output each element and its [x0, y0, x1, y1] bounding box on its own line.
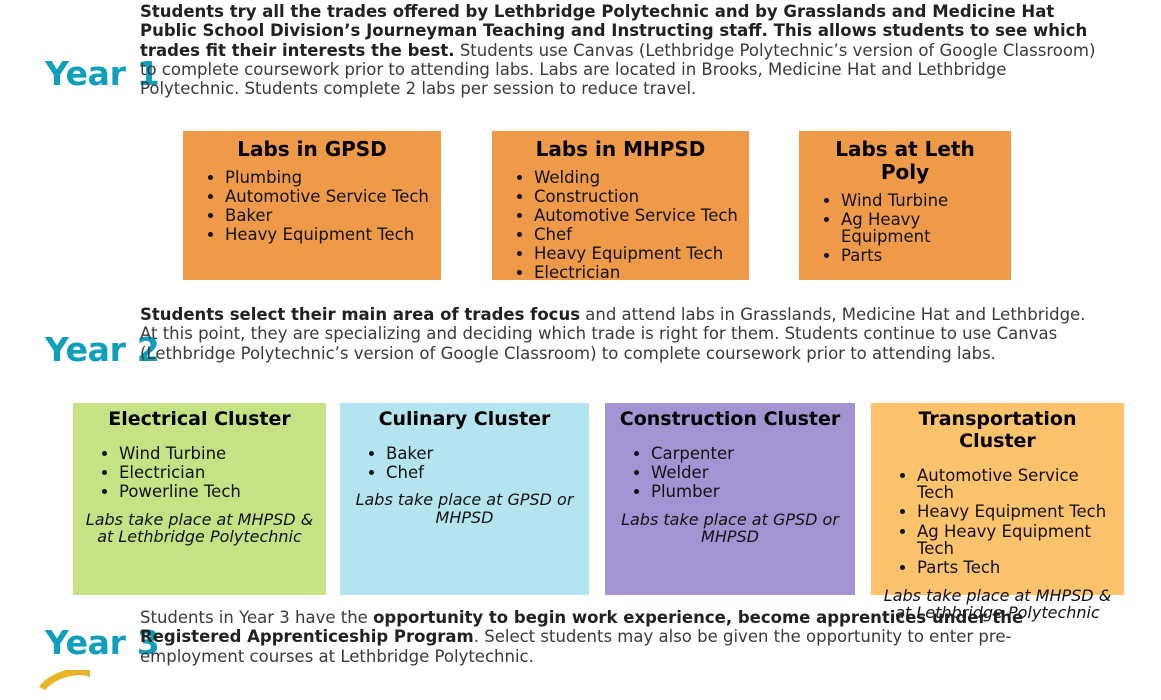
cluster-box-electrical: Electrical Cluster Wind Turbine Electric… [73, 403, 326, 595]
lab-box-leth-poly-title: Labs at Leth Poly [809, 138, 1001, 184]
year-3-lead-text: Students in Year 3 have the [140, 608, 373, 627]
cluster-electrical-list: Wind Turbine Electrician Powerline Tech [81, 445, 318, 501]
list-item: Parts [841, 247, 1001, 264]
cluster-culinary-title: Culinary Cluster [348, 409, 581, 431]
year-3-label: Year 3 [0, 608, 140, 661]
cluster-transportation-list: Automotive Service Tech Heavy Equipment … [879, 467, 1116, 577]
list-item: Plumber [651, 483, 847, 500]
cluster-electrical-title: Electrical Cluster [81, 409, 318, 431]
year-2-bold-text: Students select their main area of trade… [140, 305, 580, 324]
lab-box-mhpsd-list: Welding Construction Automotive Service … [502, 169, 739, 281]
trades-pathway-infographic: Year 1 Students try all the trades offer… [0, 0, 1161, 679]
list-item: Baker [386, 445, 581, 462]
list-item: Ag Heavy Equipment Tech [917, 523, 1116, 558]
cluster-culinary-list: Baker Chef [348, 445, 581, 482]
year-2-section: Year 2 Students select their main area o… [0, 305, 1161, 368]
cluster-construction-note: Labs take place at GPSD or MHPSD [613, 511, 847, 546]
lab-box-leth-poly: Labs at Leth Poly Wind Turbine Ag Heavy … [799, 131, 1011, 280]
list-item: Baker [225, 207, 431, 224]
list-item: Heavy Equipment Tech [225, 226, 431, 243]
cluster-construction-title: Construction Cluster [613, 409, 847, 431]
year-2-cluster-boxes: Electrical Cluster Wind Turbine Electric… [0, 403, 1161, 598]
cluster-transportation-title: Transportation Cluster [879, 409, 1116, 453]
list-item: Wind Turbine [119, 445, 318, 462]
logo-swoosh-icon [34, 670, 90, 700]
list-item: Powerline Tech [119, 483, 318, 500]
list-item: Electrician [534, 264, 739, 281]
lab-box-leth-poly-list: Wind Turbine Ag Heavy Equipment Parts [809, 192, 1001, 264]
cluster-box-culinary: Culinary Cluster Baker Chef Labs take pl… [340, 403, 589, 595]
list-item: Parts Tech [917, 559, 1116, 576]
lab-box-mhpsd: Labs in MHPSD Welding Construction Autom… [492, 131, 749, 280]
list-item: Chef [386, 464, 581, 481]
list-item: Automotive Service Tech [917, 467, 1116, 502]
list-item: Automotive Service Tech [225, 188, 431, 205]
lab-box-mhpsd-title: Labs in MHPSD [502, 138, 739, 161]
list-item: Welder [651, 464, 847, 481]
year-3-paragraph: Students in Year 3 have the opportunity … [140, 608, 1123, 666]
cluster-box-construction: Construction Cluster Carpenter Welder Pl… [605, 403, 855, 595]
year-2-paragraph: Students select their main area of trade… [140, 305, 1123, 363]
list-item: Wind Turbine [841, 192, 1001, 209]
cluster-electrical-note: Labs take place at MHPSD & at Lethbridge… [81, 511, 318, 546]
lab-box-gpsd-list: Plumbing Automotive Service Tech Baker H… [193, 169, 431, 243]
list-item: Automotive Service Tech [534, 207, 739, 224]
list-item: Heavy Equipment Tech [917, 503, 1116, 520]
year-1-label: Year 1 [0, 2, 140, 92]
list-item: Ag Heavy Equipment [841, 211, 1001, 245]
lab-box-gpsd: Labs in GPSD Plumbing Automotive Service… [183, 131, 441, 280]
list-item: Heavy Equipment Tech [534, 245, 739, 262]
cluster-culinary-note: Labs take place at GPSD or MHPSD [348, 491, 581, 526]
year-1-section: Year 1 Students try all the trades offer… [0, 2, 1161, 98]
list-item: Chef [534, 226, 739, 243]
list-item: Plumbing [225, 169, 431, 186]
year-3-section: Year 3 Students in Year 3 have the oppor… [0, 608, 1161, 666]
list-item: Carpenter [651, 445, 847, 462]
list-item: Electrician [119, 464, 318, 481]
cluster-box-transportation: Transportation Cluster Automotive Servic… [871, 403, 1124, 595]
year-2-label: Year 2 [0, 305, 140, 368]
logo-swoosh-shape [34, 670, 90, 700]
list-item: Welding [534, 169, 739, 186]
lab-box-gpsd-title: Labs in GPSD [193, 138, 431, 161]
cluster-construction-list: Carpenter Welder Plumber [613, 445, 847, 501]
list-item: Construction [534, 188, 739, 205]
year-1-lab-boxes: Labs in GPSD Plumbing Automotive Service… [0, 131, 1161, 281]
year-1-paragraph: Students try all the trades offered by L… [140, 2, 1123, 98]
